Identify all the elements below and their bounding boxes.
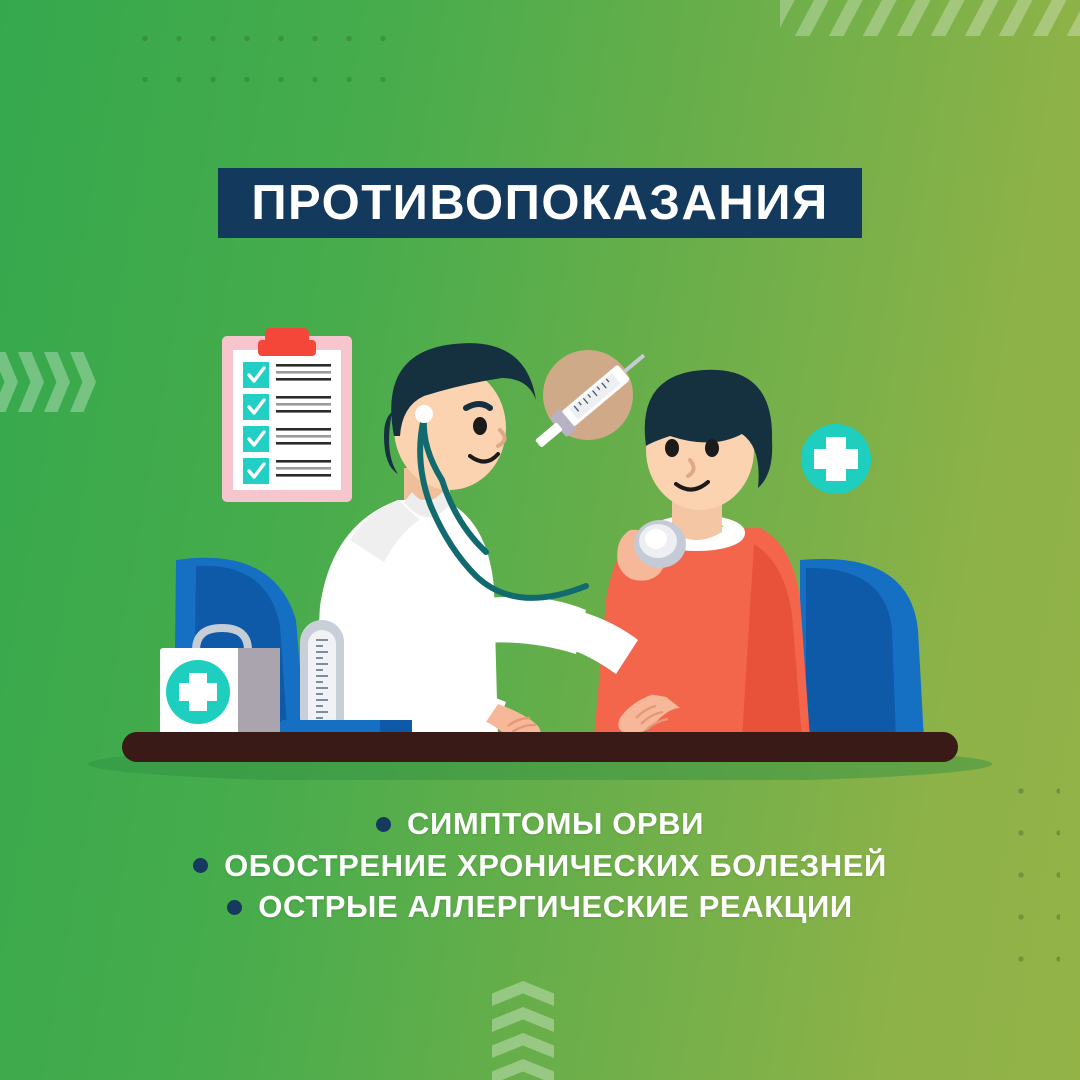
bullet-list: СИМПТОМЫ ОРВИ ОБОСТРЕНИЕ ХРОНИЧЕСКИХ БОЛ… bbox=[0, 808, 1080, 924]
illustration-doctor-examining-patient bbox=[0, 300, 1080, 780]
list-item: СИМПТОМЫ ОРВИ bbox=[376, 808, 704, 841]
bullet-dot-icon bbox=[227, 900, 242, 915]
bullet-dot-icon bbox=[376, 817, 391, 832]
blue-armchair-right-icon bbox=[800, 559, 924, 740]
title-banner: ПРОТИВОПОКАЗАНИЯ bbox=[218, 168, 862, 238]
syringe-icon bbox=[530, 345, 652, 454]
medical-cross-badge-icon bbox=[801, 424, 871, 494]
bullet-label: СИМПТОМЫ ОРВИ bbox=[407, 808, 704, 841]
page-title: ПРОТИВОПОКАЗАНИЯ bbox=[251, 179, 828, 228]
clipboard-checklist-icon bbox=[222, 328, 352, 502]
chevron-arrows-bottom-icon bbox=[492, 980, 554, 1080]
bullet-label: ОБОСТРЕНИЕ ХРОНИЧЕСКИХ БОЛЕЗНЕЙ bbox=[224, 850, 887, 883]
bullet-dot-icon bbox=[193, 858, 208, 873]
examination-table-icon bbox=[88, 732, 992, 780]
diagonal-stripes-top-right-icon bbox=[780, 0, 1080, 36]
list-item: ОСТРЫЕ АЛЛЕРГИЧЕСКИЕ РЕАКЦИИ bbox=[227, 891, 852, 924]
stethoscope-earpiece-icon bbox=[415, 405, 433, 423]
poster-canvas: ПРОТИВОПОКАЗАНИЯ bbox=[0, 0, 1080, 1080]
list-item: ОБОСТРЕНИЕ ХРОНИЧЕСКИХ БОЛЕЗНЕЙ bbox=[193, 850, 887, 883]
dot-grid-top-left-icon bbox=[128, 18, 400, 114]
bullet-label: ОСТРЫЕ АЛЛЕРГИЧЕСКИЕ РЕАКЦИИ bbox=[258, 891, 852, 924]
stethoscope-chestpiece-icon bbox=[634, 520, 686, 568]
